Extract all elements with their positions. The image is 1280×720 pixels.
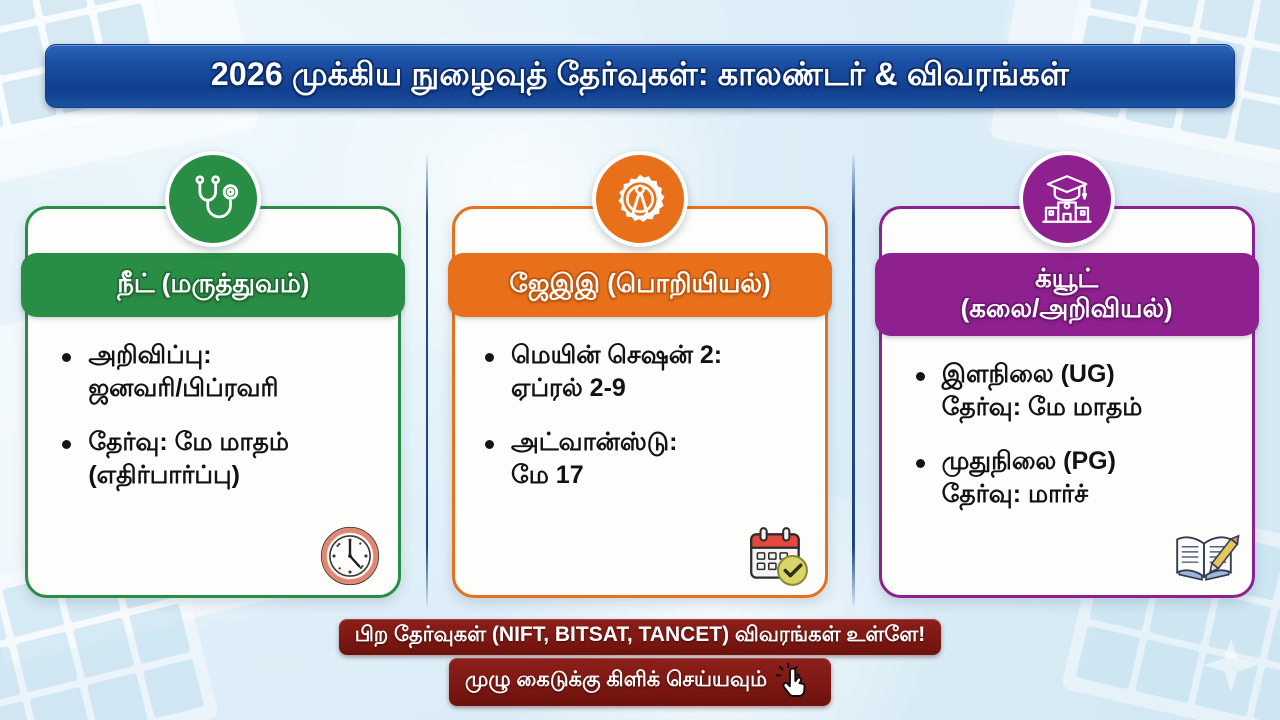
card-heading-band-cuet: க்யூட் (கலை/அறிவியல்): [875, 253, 1259, 336]
bullet-list-jee: மெயின் செஷன் 2: ஏப்ரல் 2-9 அட்வான்ஸ்டு: …: [455, 339, 825, 513]
list-item: அட்வான்ஸ்டு: மே 17: [485, 426, 809, 491]
card-title-neet: நீட் (மருத்துவம்): [117, 269, 309, 299]
exam-card-cuet[interactable]: க்யூட் (கலை/அறிவியல்) இளநிலை (UG) தேர்வு…: [879, 206, 1255, 598]
page-title-container: 2026 முக்கிய நுழைவுத் தேர்வுகள்: காலண்டர…: [0, 44, 1280, 108]
gear-compass-icon: [592, 151, 688, 247]
column-jee: ஜேஇஇ (பொறியியல்) மெயின் செஷன் 2: ஏப்ரல் …: [427, 148, 854, 598]
page-title: 2026 முக்கிய நுழைவுத் தேர்வுகள்: காலண்டர…: [211, 56, 1069, 97]
exam-cards-row: நீட் (மருத்துவம்) அறிவிப்பு: ஜனவரி/பிப்ர…: [0, 148, 1280, 598]
stethoscope-icon: [165, 151, 261, 247]
list-item: முதுநிலை (PG) தேர்வு: மார்ச்: [916, 445, 1236, 510]
column-neet: நீட் (மருத்துவம்) அறிவிப்பு: ஜனவரி/பிப்ர…: [0, 148, 427, 598]
exam-card-jee[interactable]: ஜேஇஇ (பொறியியல்) மெயின் செஷன் 2: ஏப்ரல் …: [452, 206, 828, 598]
cta-line-1[interactable]: பிற தேர்வுகள் (NIFT, BITSAT, TANCET) விவ…: [339, 619, 942, 655]
clock-icon: [314, 523, 386, 589]
bullet-list-cuet: இளநிலை (UG) தேர்வு: மே மாதம் முதுநிலை (P…: [882, 358, 1252, 532]
list-item: தேர்வு: மே மாதம் (எதிர்பார்ப்பு): [62, 426, 382, 491]
card-heading-band-neet: நீட் (மருத்துவம்): [21, 253, 405, 317]
list-item: அறிவிப்பு: ஜனவரி/பிப்ரவரி: [62, 339, 382, 404]
graduation-building-icon: [1019, 151, 1115, 247]
card-heading-band-jee: ஜேஇஇ (பொறியியல்): [448, 253, 832, 317]
card-title-jee: ஜேஇஇ (பொறியியல்): [509, 269, 770, 299]
click-hand-cursor-icon: [775, 662, 815, 700]
exam-card-neet[interactable]: நீட் (மருத்துவம்) அறிவிப்பு: ஜனவரி/பிப்ர…: [25, 206, 401, 598]
cta-line-2[interactable]: முழு கைடுக்கு கிளிக் செய்யவும்: [449, 658, 831, 706]
bullet-list-neet: அறிவிப்பு: ஜனவரி/பிப்ரவரி தேர்வு: மே மாத…: [28, 339, 398, 513]
card-title-cuet: க்யூட் (கலை/அறிவியல்): [961, 264, 1173, 323]
calendar-check-icon: [741, 523, 813, 589]
title-banner: 2026 முக்கிய நுழைவுத் தேர்வுகள்: காலண்டர…: [45, 44, 1235, 108]
cta-text-2: முழு கைடுக்கு கிளிக் செய்யவும்: [465, 668, 767, 694]
cta-text-1: பிற தேர்வுகள் (NIFT, BITSAT, TANCET) விவ…: [355, 623, 926, 649]
list-item: மெயின் செஷன் 2: ஏப்ரல் 2-9: [485, 339, 809, 404]
open-book-pencil-icon: [1168, 523, 1240, 589]
list-item: இளநிலை (UG) தேர்வு: மே மாதம்: [916, 358, 1236, 423]
cta-container: பிற தேர்வுகள் (NIFT, BITSAT, TANCET) விவ…: [0, 619, 1280, 706]
column-cuet: க்யூட் (கலை/அறிவியல்) இளநிலை (UG) தேர்வு…: [853, 148, 1280, 598]
